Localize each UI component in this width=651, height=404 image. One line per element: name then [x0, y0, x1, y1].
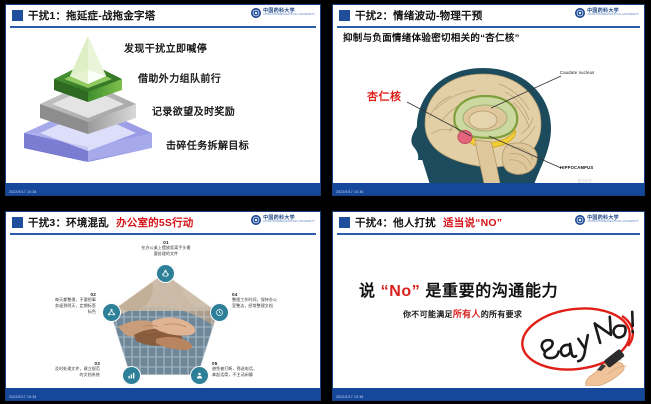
pyramid-label-2: 借助外力组队前行 — [138, 70, 221, 85]
pentagon-text-05: 避免被打断，筛选电话，拿起话筒，不主动闲聊 — [212, 366, 304, 378]
pyramid-label-4: 击碎任务拆解目标 — [166, 137, 249, 152]
logo-name-en: CHINA PHARMACEUTICAL UNIVERSITY — [587, 221, 639, 223]
footer-timestamp: 2022/5/17 10:36 — [9, 190, 37, 194]
footer-timestamp: 2022/5/17 10:36 — [336, 190, 364, 194]
pentagon-item-02: 02 每天都整理，不要把事务留到明天，定期标签标色 — [12, 292, 96, 315]
chart-icon[interactable] — [122, 366, 141, 385]
slide-3-title-accent: 办公室的5S行动 — [116, 217, 193, 229]
pyramid-label-3: 记录欲望及时奖励 — [152, 103, 235, 118]
subline-everyone: 所有人 — [453, 309, 481, 319]
recycle-icon[interactable] — [156, 264, 175, 283]
slide-4-title: 干扰4：他人打扰 适当说“NO” — [355, 215, 502, 230]
slide-3-footer: 2022/5/17 10:36 — [6, 388, 320, 400]
slide-4-headline: 说 “No” 是重要的沟通能力 — [359, 277, 558, 301]
slide-4-footer: 2022/5/17 10:36 — [333, 388, 644, 400]
clock-icon[interactable] — [210, 303, 229, 322]
slide-2-body: 抑制与负面情绪体验密切相关的“杏仁核” — [333, 28, 644, 183]
logo-name-en: CHINA PHARMACEUTICAL UNIVERSITY — [263, 14, 315, 16]
header-square-marker — [12, 10, 23, 21]
slide-4-body: 说 “No” 是重要的沟通能力 你不可能满足所有人的所有要求 — [333, 235, 644, 388]
slide-2[interactable]: 干扰2：情绪波动-物理干预 中国药科大学 CHINA PHARMACEUTICA… — [332, 4, 645, 196]
slide-cell-4: 干扰4：他人打扰 适当说“NO” 中国药科大学 CHINA PHARMACEUT… — [326, 202, 651, 404]
pyramid-label-1: 发现干扰立即喊停 — [124, 40, 207, 55]
slide-grid: 干扰1：拖延症-战拖金字塔 中国药科大学 CHINA PHARMACEUTICA… — [0, 0, 651, 404]
logo-name-en: CHINA PHARMACEUTICAL UNIVERSITY — [263, 221, 315, 223]
slide-cell-3: 干扰3：环境混乱 办公室的5S行动 中国药科大学 CHINA PHARMACEU… — [0, 202, 326, 404]
slide-4[interactable]: 干扰4：他人打扰 适当说“NO” 中国药科大学 CHINA PHARMACEUT… — [332, 211, 645, 401]
headline-no: “No” — [381, 283, 421, 300]
slide-4-subline: 你不可能满足所有人的所有要求 — [403, 307, 522, 320]
footer-timestamp: 2022/5/17 10:36 — [336, 395, 364, 399]
footer-timestamp: 2022/5/17 10:36 — [9, 395, 37, 399]
headline-part-2: 是重要的沟通能力 — [420, 283, 558, 300]
pentagon-item-04: 04 整理工作时间，保持办公室整洁，经常整理文档 — [232, 292, 320, 309]
slide-1-body: 发现干扰立即喊停 借助外力组队前行 记录欲望及时奖励 击碎任务拆解目标 — [6, 28, 320, 183]
pentagon-text-01: 在办公桌上摆放距离手头需要处理的文件 — [124, 245, 208, 257]
slide-2-title: 干扰2：情绪波动-物理干预 — [355, 8, 482, 23]
university-logo: 中国药科大学 CHINA PHARMACEUTICAL UNIVERSITY — [575, 215, 639, 225]
university-seal-icon — [251, 215, 261, 225]
header-square-marker — [12, 217, 23, 228]
university-seal-icon — [251, 8, 261, 18]
brain-diagram: 杏仁核 Caudate nucleus HIPPOCAMPUS 图虫创意 — [371, 48, 606, 188]
brain-amygdala-label: 杏仁核 — [367, 88, 402, 104]
header-square-marker — [339, 10, 350, 21]
university-seal-icon — [575, 215, 585, 225]
header-square-marker — [339, 217, 350, 228]
university-logo: 中国药科大学 CHINA PHARMACEUTICAL UNIVERSITY — [251, 8, 315, 18]
university-logo: 中国药科大学 CHINA PHARMACEUTICAL UNIVERSITY — [575, 8, 639, 18]
slide-2-footer: 2022/5/17 10:36 — [333, 183, 644, 195]
university-seal-icon — [575, 8, 585, 18]
slide-3-title: 干扰3：环境混乱 办公室的5S行动 — [28, 215, 194, 230]
pentagon-item-03: 03 及时处理文件，建立规范的文档系统 — [8, 361, 100, 378]
slide-3[interactable]: 干扰3：环境混乱 办公室的5S行动 中国药科大学 CHINA PHARMACEU… — [5, 211, 321, 401]
pentagon-text-04: 整理工作时间，保持办公室整洁，经常整理文档 — [232, 297, 320, 309]
slide-1-title: 干扰1：拖延症-战拖金字塔 — [28, 8, 155, 23]
slide-1[interactable]: 干扰1：拖延症-战拖金字塔 中国药科大学 CHINA PHARMACEUTICA… — [5, 4, 321, 196]
pentagon-diagram: 01 在办公桌上摆放距离手头需要处理的文件 02 每天都整理，不要把事务留到明天… — [6, 235, 320, 388]
pentagon-text-03: 及时处理文件，建立规范的文档系统 — [8, 366, 100, 378]
slide-4-title-accent: 适当说“NO” — [443, 217, 502, 229]
slide-2-subtitle: 抑制与负面情绪体验密切相关的“杏仁核” — [343, 30, 520, 44]
slide-3-body: 01 在办公桌上摆放距离手头需要处理的文件 02 每天都整理，不要把事务留到明天… — [6, 235, 320, 388]
subline-part-1: 你不可能满足 — [403, 310, 453, 319]
slide-cell-1: 干扰1：拖延症-战拖金字塔 中国药科大学 CHINA PHARMACEUTICA… — [0, 0, 326, 202]
pentagon-item-05: 05 避免被打断，筛选电话，拿起话筒，不主动闲聊 — [212, 361, 304, 378]
subline-part-2: 的所有要求 — [481, 310, 523, 319]
slide-1-footer: 2022/5/17 10:36 — [6, 183, 320, 195]
logo-name-en: CHINA PHARMACEUTICAL UNIVERSITY — [587, 14, 639, 16]
headline-part-1: 说 — [359, 283, 381, 300]
brain-label-caudate: Caudate nucleus — [560, 70, 594, 75]
pentagon-item-01: 01 在办公桌上摆放距离手头需要处理的文件 — [124, 240, 208, 257]
say-no-svg — [518, 302, 640, 386]
university-logo: 中国药科大学 CHINA PHARMACEUTICAL UNIVERSITY — [251, 215, 315, 225]
pentagon-text-02: 每天都整理，不要把事务留到明天，定期标签标色 — [12, 297, 96, 315]
user-icon[interactable] — [190, 366, 209, 385]
slide-cell-2: 干扰2：情绪波动-物理干预 中国药科大学 CHINA PHARMACEUTICA… — [326, 0, 651, 202]
say-no-doodle — [518, 302, 640, 386]
network-icon[interactable] — [102, 303, 121, 322]
brain-label-hippocampus: HIPPOCAMPUS — [560, 165, 593, 170]
